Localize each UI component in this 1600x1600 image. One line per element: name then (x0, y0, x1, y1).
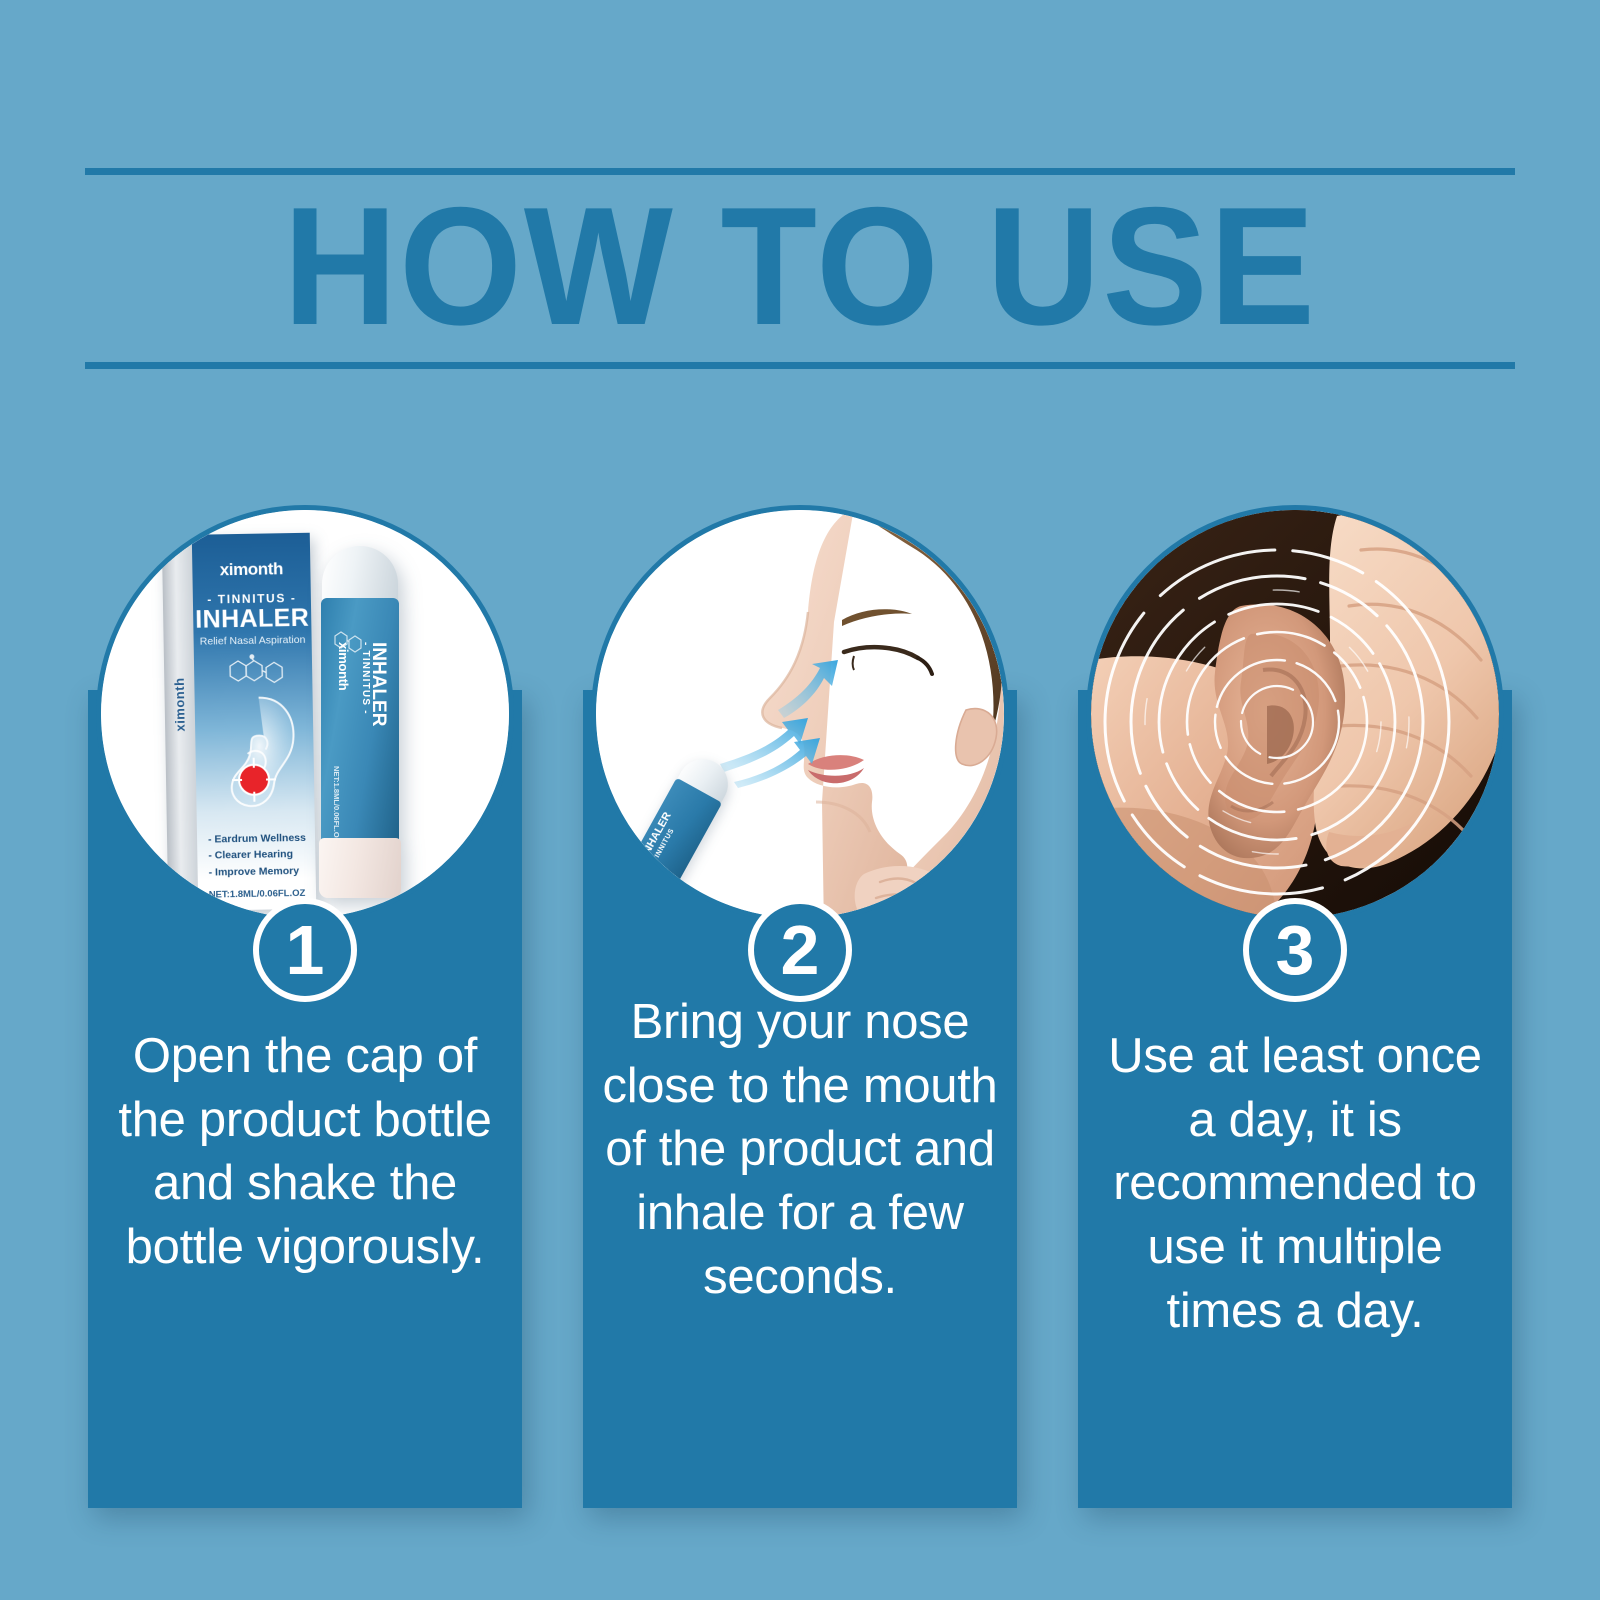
carton-benefit-1: - Eardrum Wellness (208, 830, 306, 848)
step-card-2: INHALER TINNITUS 2 Bring your nose close… (583, 505, 1017, 1515)
carton-benefit-2: - Clearer Hearing (208, 846, 306, 864)
step-caption-3: Use at least once a day, it is recommend… (1092, 1025, 1498, 1343)
step-card-1: ximonth ximonth - TINNITUS - INHALER Rel… (88, 505, 522, 1515)
carton-spine-brand: ximonth (171, 649, 188, 759)
steps-row: ximonth ximonth - TINNITUS - INHALER Rel… (88, 505, 1512, 1515)
bottle-body: ximonth - TINNITUS - INHALER NET:1.8ML/0… (321, 598, 399, 846)
step-3-photo (1086, 505, 1504, 923)
step-number-badge-1: 1 (253, 898, 357, 1002)
carton-brand: ximonth (192, 559, 310, 581)
ear-illustration-icon (200, 683, 309, 835)
inhaler-bottle: ximonth - TINNITUS - INHALER NET:1.8ML/0… (317, 546, 403, 902)
bottle-base (319, 838, 401, 898)
step-1-photo: ximonth ximonth - TINNITUS - INHALER Rel… (96, 505, 514, 923)
carton-front: ximonth - TINNITUS - INHALER Relief Nasa… (192, 533, 317, 911)
carton-benefit-3: - Improve Memory (209, 863, 307, 881)
product-box-and-bottle-photo: ximonth ximonth - TINNITUS - INHALER Rel… (101, 510, 509, 918)
woman-inhaling-product-photo: INHALER TINNITUS (596, 510, 1004, 918)
step-2-photo: INHALER TINNITUS (591, 505, 1009, 923)
carton-benefits: - Eardrum Wellness - Clearer Hearing - I… (208, 830, 307, 880)
carton-tagline: Relief Nasal Aspiration (194, 633, 312, 647)
step-caption-2: Bring your nose close to the mouth of th… (597, 991, 1003, 1309)
step-number-badge-3: 3 (1243, 898, 1347, 1002)
step-number-badge-2: 2 (748, 898, 852, 1002)
carton-product-name: INHALER (193, 605, 311, 635)
step-card-3: 3 Use at least once a day, it is recomme… (1078, 505, 1512, 1515)
bottle-product-name: INHALER (367, 642, 389, 726)
inhale-arrows-icon (716, 660, 856, 790)
title-rule-bottom (85, 362, 1515, 369)
header: HOW TO USE (85, 168, 1515, 369)
ear-and-hand-illustration (1091, 510, 1499, 918)
page-title: HOW TO USE (128, 175, 1472, 362)
product-carton: ximonth ximonth - TINNITUS - INHALER Rel… (162, 533, 316, 908)
step-caption-1: Open the cap of the product bottle and s… (102, 1025, 508, 1280)
bottle-brand: ximonth (336, 642, 351, 690)
ear-with-cupped-hand-soundwaves-photo (1091, 510, 1499, 918)
bottle-net-content: NET:1.8ML/0.06FL.OZ (332, 766, 341, 842)
